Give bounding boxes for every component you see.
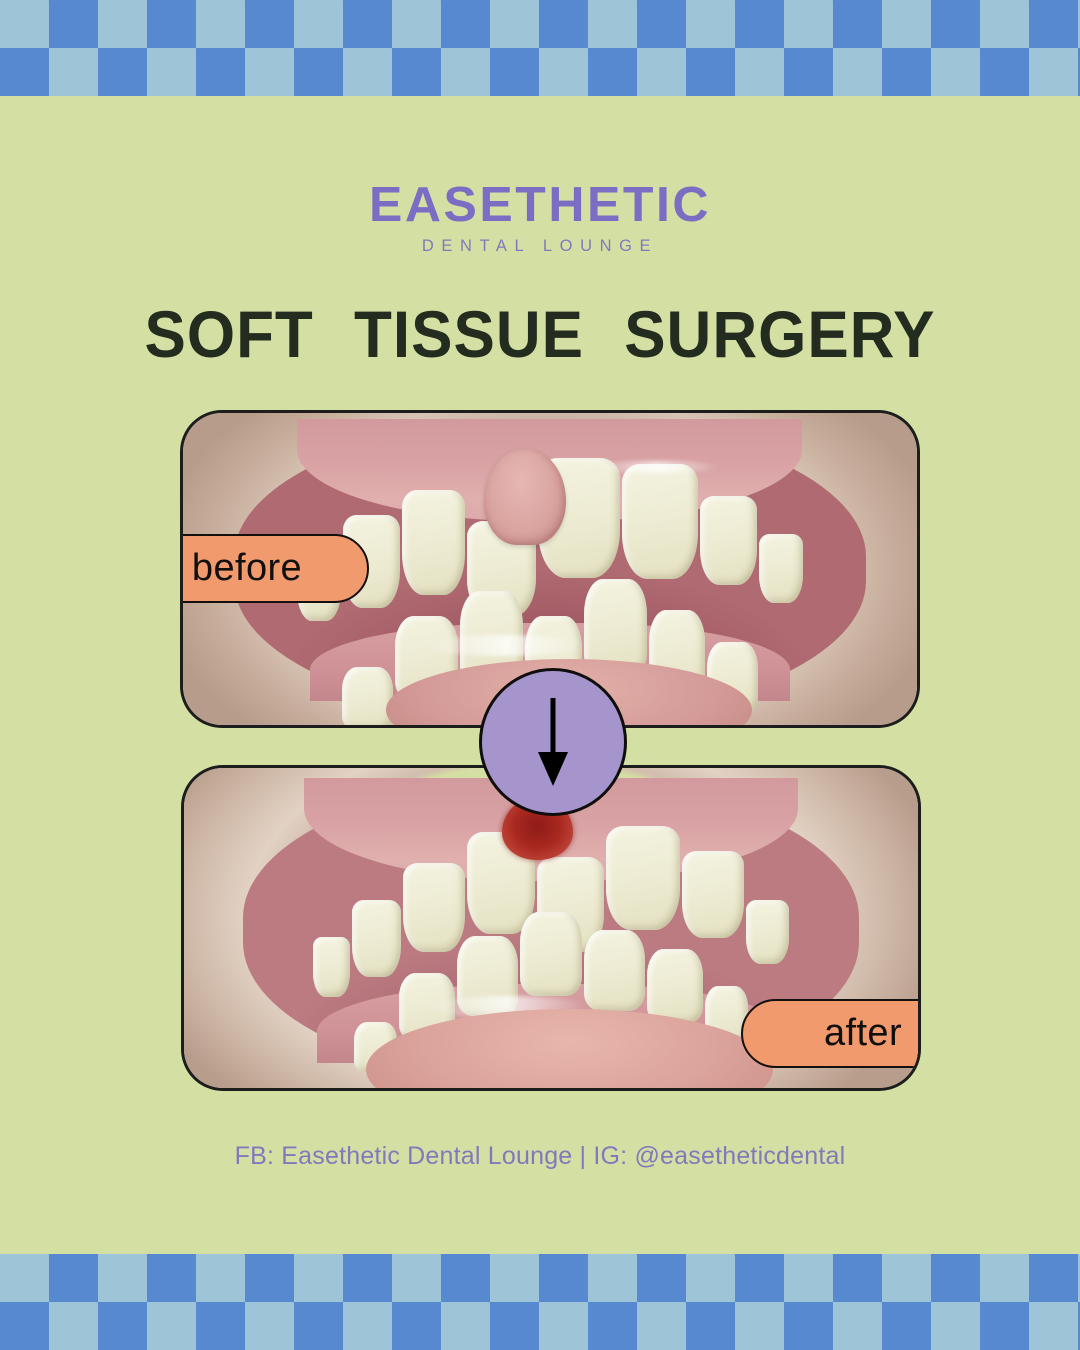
poster-canvas: EASETHETIC DENTAL LOUNGE SOFT TISSUE SUR… — [0, 0, 1080, 1350]
brand-tagline: DENTAL LOUNGE — [0, 237, 1080, 256]
lower-teeth-row — [243, 899, 860, 987]
brand-name: EASETHETIC — [0, 180, 1080, 231]
page-title: SOFT TISSUE SURGERY — [0, 298, 1080, 373]
social-handles: FB: Easethetic Dental Lounge | IG: @ease… — [0, 1142, 1080, 1171]
gingival-overgrowth-lesion — [484, 449, 566, 545]
after-badge: after — [741, 999, 921, 1068]
down-arrow-icon — [533, 696, 573, 788]
brand-logo: EASETHETIC DENTAL LOUNGE — [0, 180, 1080, 256]
transition-circle — [479, 668, 627, 816]
saliva-highlight — [424, 635, 588, 656]
before-badge: before — [180, 534, 369, 603]
checkerboard-top-border — [0, 0, 1080, 96]
checkerboard-bottom-border — [0, 1254, 1080, 1350]
